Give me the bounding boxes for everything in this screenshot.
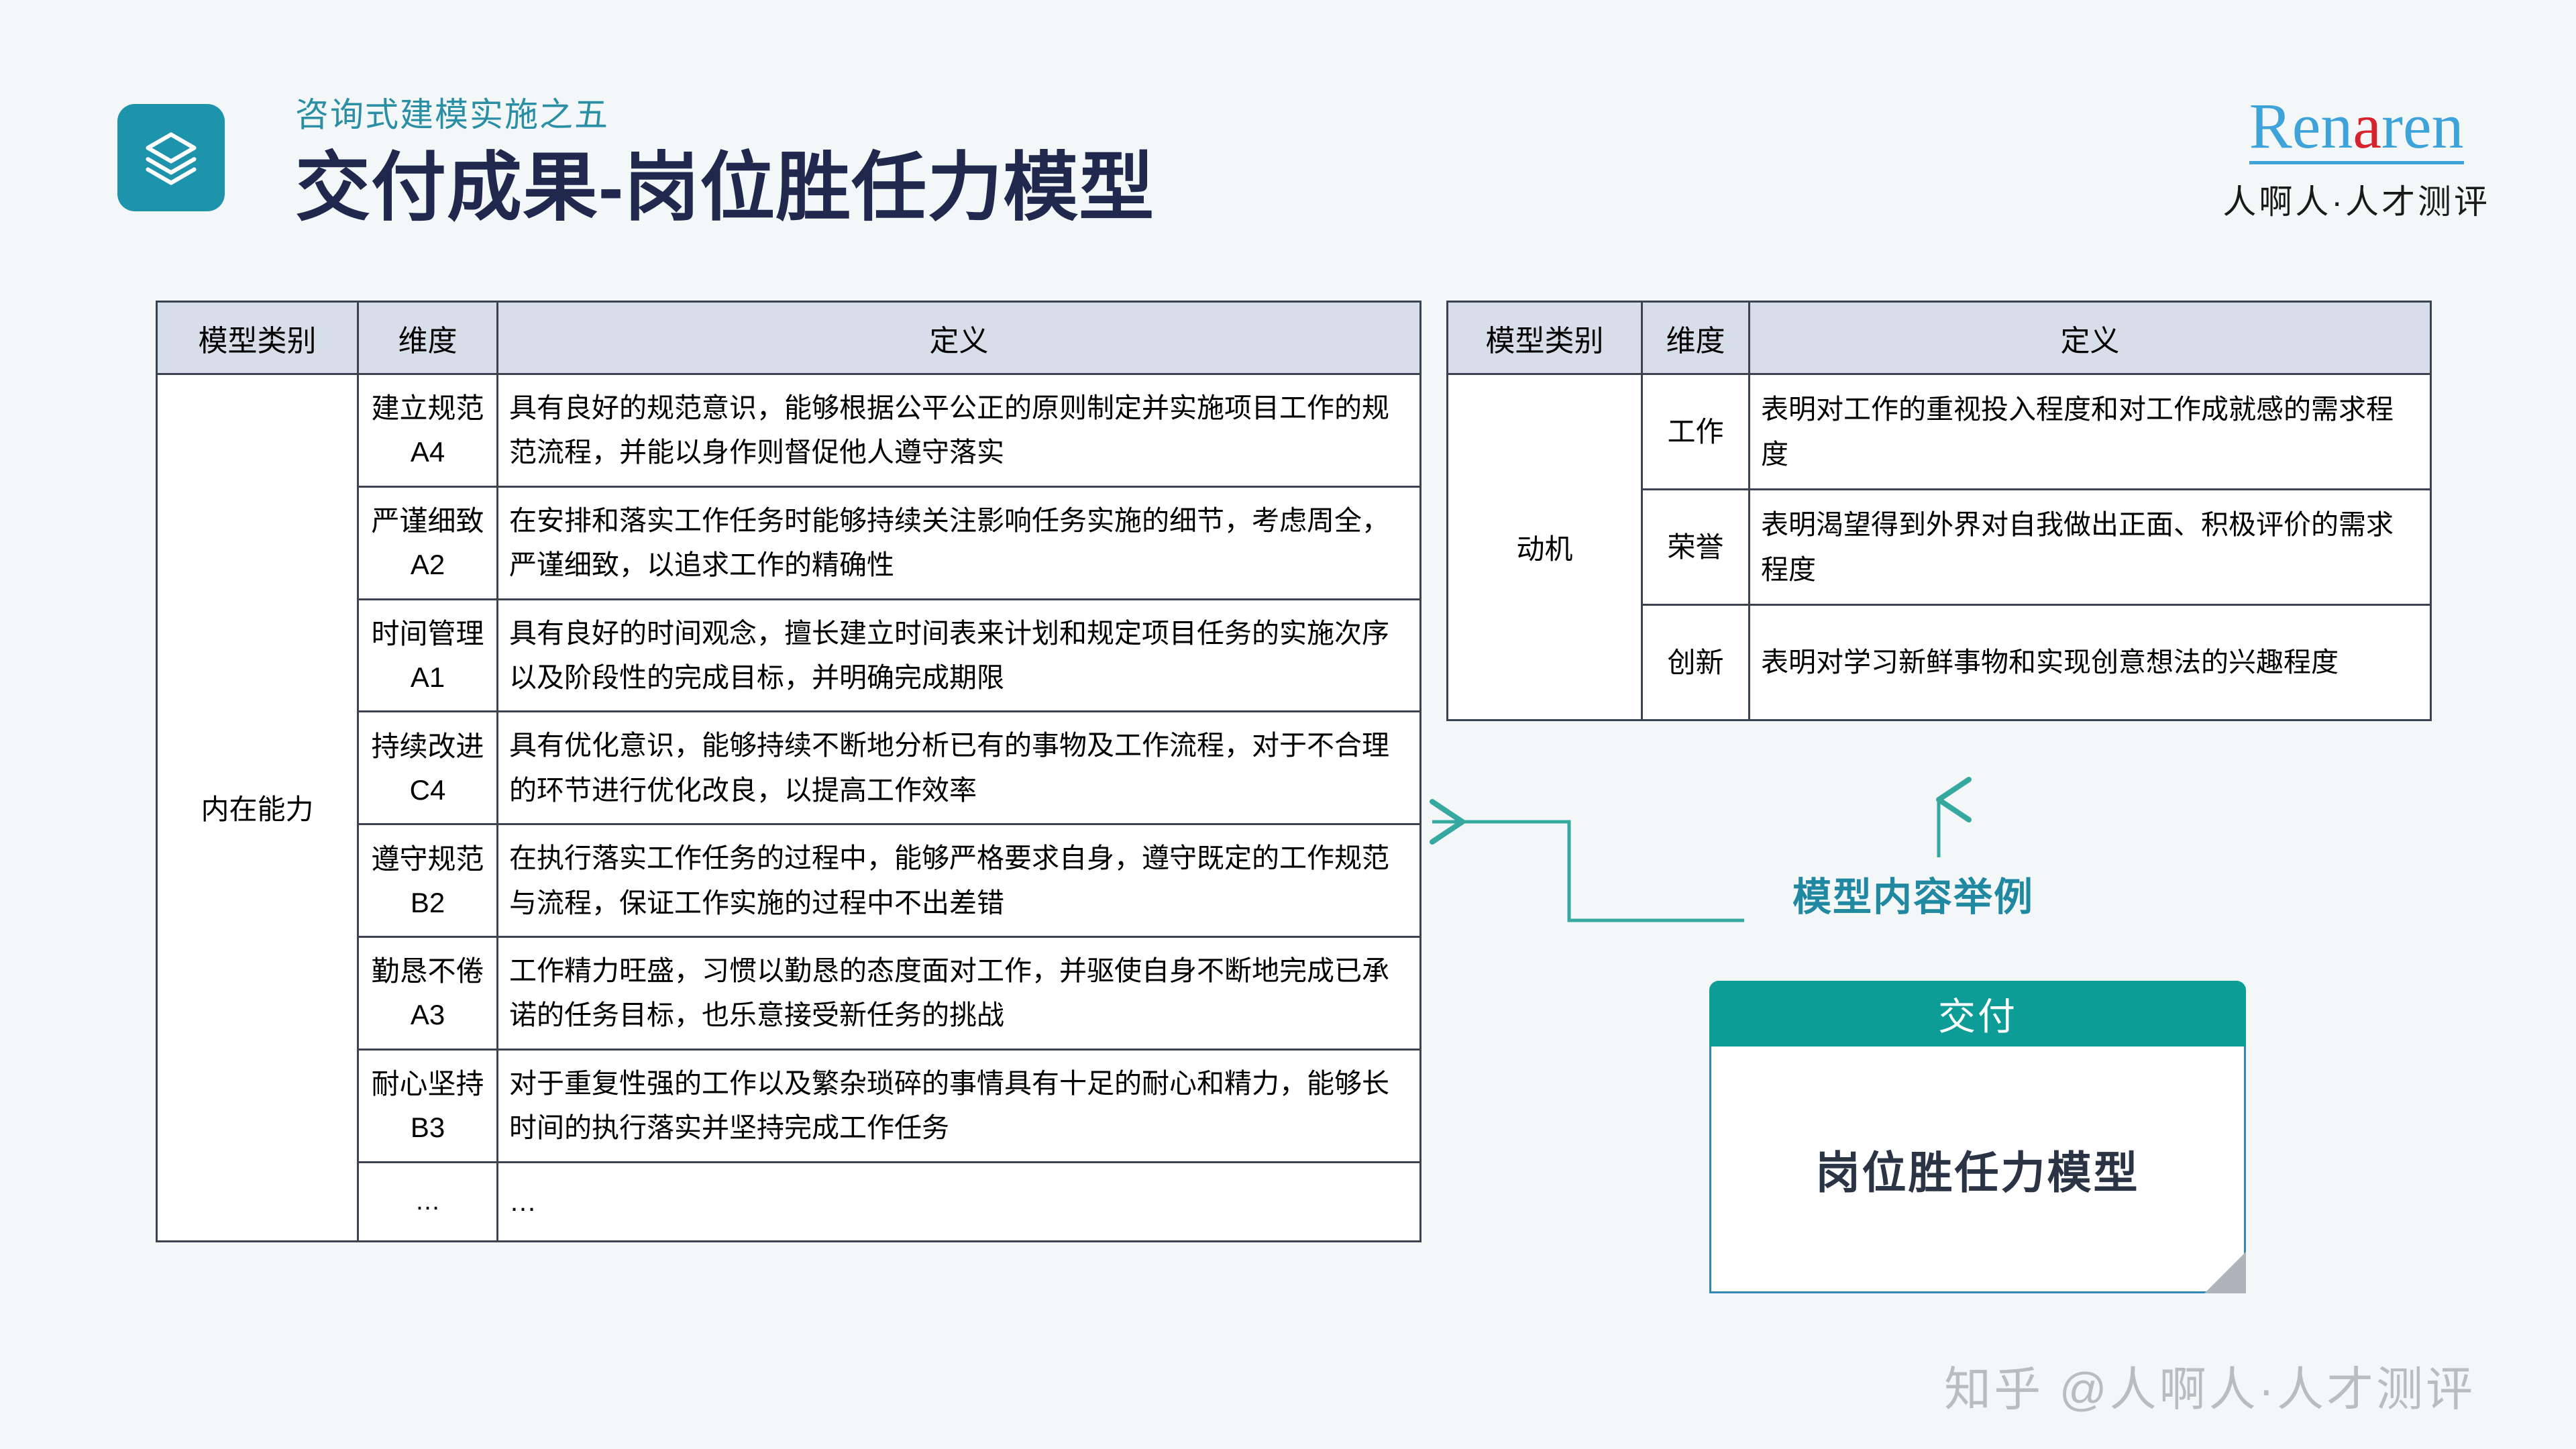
cell-dimension: 荣誉 [1642, 490, 1750, 605]
cell-definition: 表明对学习新鲜事物和实现创意想法的兴趣程度 [1750, 605, 2431, 720]
cell-dimension: 创新 [1642, 605, 1750, 720]
cell-definition: 工作精力旺盛，习惯以勤恳的态度面对工作，并驱使自身不断地完成已承诺的任务目标，也… [498, 937, 1421, 1050]
brand-subtitle: 人啊人·人才测评 [2222, 175, 2490, 223]
cell-definition: 具有良好的规范意识，能够根据公平公正的原则制定并实施项目工作的规范流程，并能以身… [498, 374, 1421, 487]
header-subtitle: 咨询式建模实施之五 [295, 94, 1155, 136]
column-header-category: 模型类别 [157, 302, 358, 374]
cell-dimension: 建立规范A4 [358, 374, 498, 487]
brand-wordmark-part1: Ren [2249, 90, 2353, 162]
connector-elbow-to-left-table [1432, 822, 1744, 920]
column-header-dimension: 维度 [358, 302, 498, 374]
column-header-category: 模型类别 [1448, 302, 1642, 374]
layers-stack-icon [117, 104, 225, 211]
column-header-definition: 定义 [498, 302, 1421, 374]
cell-dimension: 耐心坚持B3 [358, 1049, 498, 1162]
cell-dimension: 时间管理A1 [358, 599, 498, 712]
cell-definition: 具有优化意识，能够持续不断地分析已有的事物及工作流程，对于不合理的环节进行优化改… [498, 712, 1421, 824]
cell-category: 内在能力 [157, 374, 358, 1242]
table-row: 动机 工作 表明对工作的重视投入程度和对工作成就感的需求程度 [1448, 374, 2431, 490]
cell-definition: 具有良好的时间观念，擅长建立时间表来计划和规定项目任务的实施次序以及阶段性的完成… [498, 599, 1421, 712]
model-table-right: 模型类别 维度 定义 动机 工作 表明对工作的重视投入程度和对工作成就感的需求程… [1446, 301, 2432, 721]
cell-dimension: 严谨细致A2 [358, 486, 498, 599]
cell-dimension: 勤恳不倦A3 [358, 937, 498, 1050]
deliverable-card-header: 交付 [1709, 981, 2246, 1046]
cell-definition: 对于重复性强的工作以及繁杂琐碎的事情具有十足的耐心和精力，能够长时间的执行落实并… [498, 1049, 1421, 1162]
watermark: 知乎 @人啊人·人才测评 [1944, 1352, 2475, 1419]
page-title: 交付成果-岗位胜任力模型 [295, 146, 1155, 229]
brand-wordmark: Renaren [2249, 94, 2464, 164]
column-header-dimension: 维度 [1642, 302, 1750, 374]
cell-dimension: … [358, 1162, 498, 1241]
cell-definition: … [498, 1162, 1421, 1241]
deliverable-card: 交付 岗位胜任力模型 [1709, 981, 2246, 1293]
callout-label: 模型内容举例 [1792, 865, 2034, 922]
brand-wordmark-accent: a [2353, 90, 2381, 162]
cell-dimension: 持续改进C4 [358, 712, 498, 824]
deliverable-card-body: 岗位胜任力模型 [1709, 1046, 2246, 1293]
cell-definition: 表明渴望得到外界对自我做出正面、积极评价的需求程度 [1750, 490, 2431, 605]
brand-logo: Renaren 人啊人·人才测评 [2222, 94, 2490, 223]
folded-corner-icon [2204, 1252, 2246, 1293]
cell-category: 动机 [1448, 374, 1642, 720]
header-text-block: 咨询式建模实施之五 交付成果-岗位胜任力模型 [295, 94, 1155, 229]
cell-definition: 在安排和落实工作任务时能够持续关注影响任务实施的细节，考虑周全，严谨细致，以追求… [498, 486, 1421, 599]
cell-dimension: 遵守规范B2 [358, 824, 498, 937]
table-header-row: 模型类别 维度 定义 [157, 302, 1421, 374]
cell-definition: 在执行落实工作任务的过程中，能够严格要求自身，遵守既定的工作规范与流程，保证工作… [498, 824, 1421, 937]
slide-canvas: 咨询式建模实施之五 交付成果-岗位胜任力模型 Renaren 人啊人·人才测评 … [0, 0, 2576, 1449]
model-table-left: 模型类别 维度 定义 内在能力 建立规范A4 具有良好的规范意识，能够根据公平公… [156, 301, 1421, 1242]
deliverable-card-title: 岗位胜任力模型 [1816, 1137, 2140, 1201]
table-header-row: 模型类别 维度 定义 [1448, 302, 2431, 374]
cell-definition: 表明对工作的重视投入程度和对工作成就感的需求程度 [1750, 374, 2431, 490]
column-header-definition: 定义 [1750, 302, 2431, 374]
table-row: 内在能力 建立规范A4 具有良好的规范意识，能够根据公平公正的原则制定并实施项目… [157, 374, 1421, 487]
brand-wordmark-part2: ren [2381, 90, 2464, 162]
cell-dimension: 工作 [1642, 374, 1750, 490]
